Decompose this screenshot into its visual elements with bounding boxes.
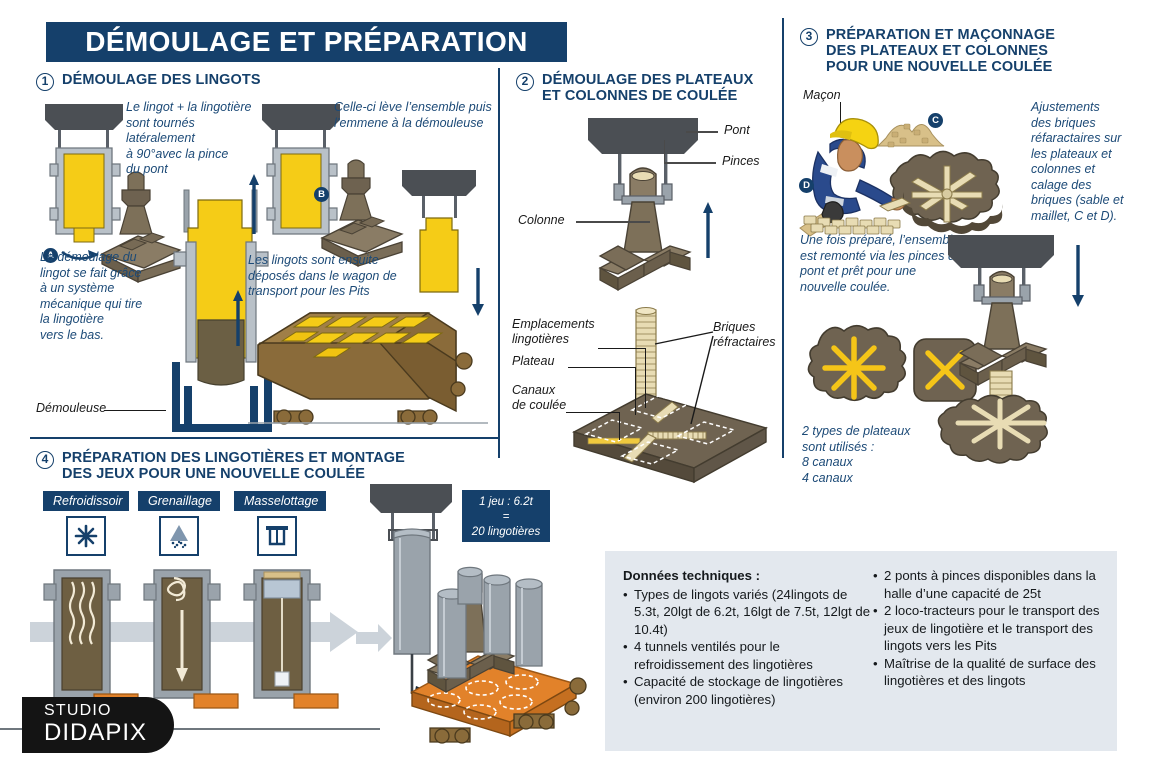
tag-masselottage: Masselottage: [234, 491, 326, 511]
shot-blast-icon: [166, 523, 192, 549]
tech-item: 2 loco-tracteurs pour le transport des j…: [873, 602, 1109, 655]
label-canaux-de-coulee: Canaux de coulée: [512, 383, 566, 413]
snowflake-icon-box: [66, 516, 106, 556]
tech-panel-title: Données techniques :: [623, 567, 871, 585]
label-plateau: Plateau: [512, 354, 554, 369]
tech-column-right: 2 ponts à pinces disponibles dans la hal…: [873, 567, 1109, 690]
snowflake-icon: [74, 524, 98, 548]
riser-icon-box: [257, 516, 297, 556]
leader-pinces: [664, 162, 716, 164]
plateau-reassembly-diagram: [938, 235, 1138, 460]
down-arrow-wagon: [468, 268, 492, 320]
section-1-title: DÉMOULAGE DES LINGOTS: [62, 72, 261, 88]
leader-canaux: [566, 412, 620, 413]
mason-scene: [800, 100, 1015, 225]
label-briques-refractaires: Briques réfractaires: [713, 320, 776, 350]
leader-canaux-v: [619, 412, 620, 440]
label-pinces: Pinces: [722, 154, 760, 169]
tech-item: Capacité de stockage de lingotières (env…: [623, 673, 871, 708]
studio-logo: STUDIO DIDAPIX: [22, 697, 174, 753]
label-emplacements-lingotieres: Emplacements lingotières: [512, 317, 595, 347]
section-3-heading: 3 PRÉPARATION ET MAÇONNAGE DES PLATEAUX …: [800, 27, 1055, 75]
badge-c: C: [928, 113, 943, 128]
section-2-title: DÉMOULAGE DES PLATEAUX ET COLONNES DE CO…: [542, 72, 753, 104]
section-4-title: PRÉPARATION DES LINGOTIÈRES ET MONTAGE D…: [62, 450, 405, 482]
section-2-heading: 2 DÉMOULAGE DES PLATEAUX ET COLONNES DE …: [516, 72, 753, 104]
note-ajustements-briques: Ajustements des briques réfaractaires su…: [1031, 100, 1146, 224]
transport-wagon-diagram: [248, 285, 488, 425]
shot-blast-icon-box: [159, 516, 199, 556]
badge-b: B: [314, 187, 329, 202]
leader-pont: [686, 131, 718, 133]
label-pont: Pont: [724, 123, 750, 138]
tech-list-left: Types de lingots variés (24lingots de 5.…: [623, 586, 871, 709]
tech-item: 2 ponts à pinces disponibles dans la hal…: [873, 567, 1109, 602]
infographic-page: DÉMOULAGE ET PRÉPARATION 1 DÉMOULAGE DES…: [0, 0, 1152, 782]
page-title-banner: DÉMOULAGE ET PRÉPARATION: [46, 22, 567, 62]
tag-grenaillage: Grenaillage: [138, 491, 220, 511]
tech-item: Maîtrise de la qualité de surface des li…: [873, 655, 1109, 690]
tag-refroidissoir: Refroidissoir: [43, 491, 129, 511]
badge-d: D: [799, 178, 814, 193]
section-1-number: 1: [36, 73, 54, 91]
leader-emplacements: [598, 348, 646, 349]
section-3-title: PRÉPARATION ET MAÇONNAGE DES PLATEAUX ET…: [826, 27, 1055, 75]
note-mechanical-demould: Le démoulage du lingot se fait grâce à u…: [40, 250, 190, 343]
riser-icon: [264, 524, 290, 548]
tech-list-right: 2 ponts à pinces disponibles dans la hal…: [873, 567, 1109, 690]
label-colonne: Colonne: [518, 213, 565, 228]
tech-item: Types de lingots variés (24lingots de 5.…: [623, 586, 871, 639]
tech-column-left: Données techniques : Types de lingots va…: [623, 567, 871, 708]
note-types-plateaux: 2 types de plateaux sont utilisés : 8 ca…: [802, 424, 952, 486]
leader-demouleuse: [104, 410, 166, 411]
leader-briques: [645, 320, 717, 430]
logo-line-2: DIDAPIX: [44, 720, 174, 746]
page-title: DÉMOULAGE ET PRÉPARATION: [85, 26, 528, 58]
leader-plateau-v: [635, 367, 636, 415]
mould-treatment-stations: [42, 558, 342, 708]
mould-set-assembly-diagram: [356, 484, 606, 744]
leader-plateau: [568, 367, 636, 368]
technical-data-panel: Données techniques : Types de lingots va…: [605, 551, 1117, 751]
column-lift-diagram: [578, 118, 748, 308]
section-2-number: 2: [516, 73, 534, 91]
section-4-heading: 4 PRÉPARATION DES LINGOTIÈRES ET MONTAGE…: [36, 450, 405, 482]
section-3-number: 3: [800, 28, 818, 46]
leader-colonne: [576, 221, 650, 223]
divider-horizontal-1: [30, 437, 498, 439]
logo-line-1: STUDIO: [44, 702, 174, 720]
leader-pinces-v: [664, 140, 665, 164]
note-lift-to-demoulder: Celle-ci lève l’ensemble puis l’emmene à…: [334, 100, 504, 131]
label-demouleuse: Démouleuse: [36, 401, 106, 416]
tech-item: 4 tunnels ventilés pour le refroidisseme…: [623, 638, 871, 673]
section-1-heading: 1 DÉMOULAGE DES LINGOTS: [36, 72, 261, 91]
section-4-number: 4: [36, 451, 54, 469]
